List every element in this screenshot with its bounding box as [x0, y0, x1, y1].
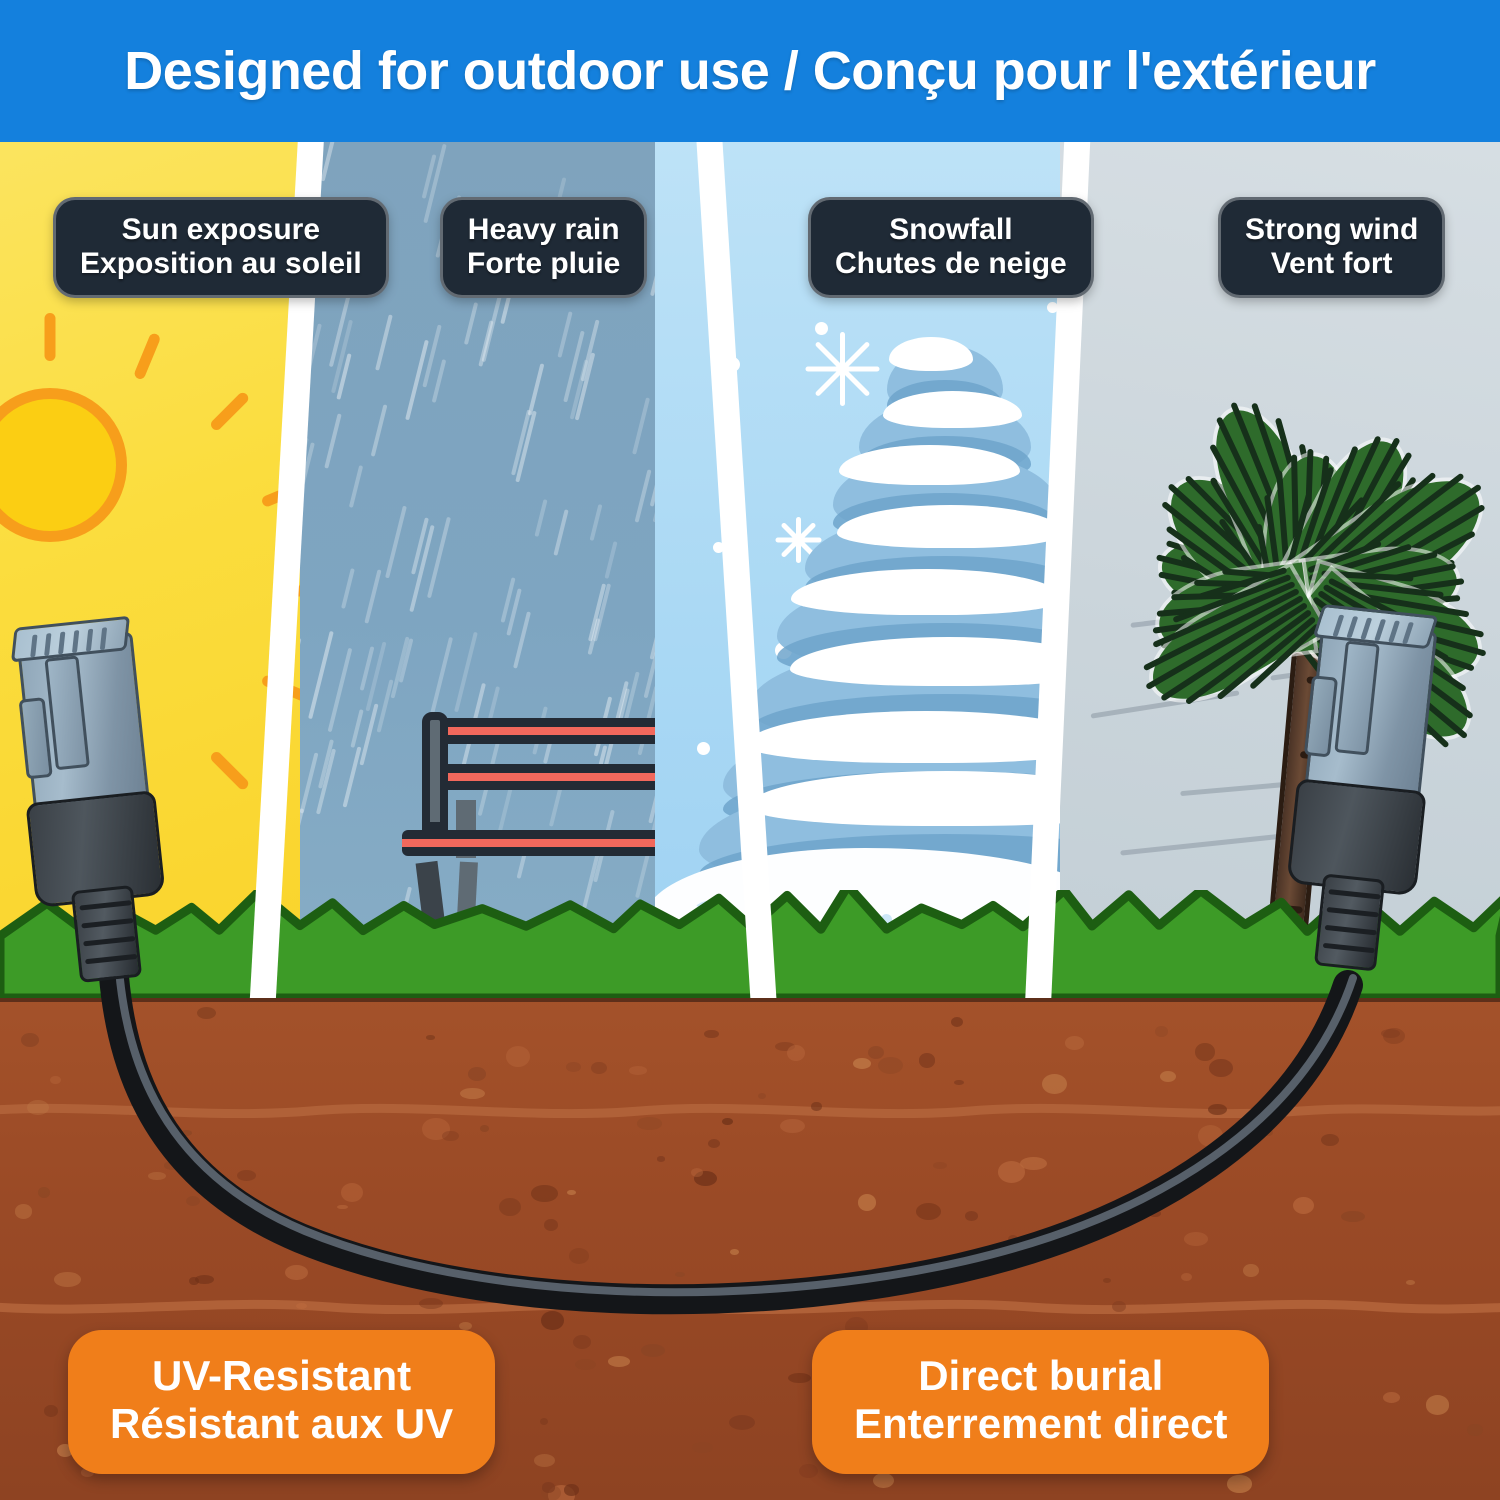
rain-drop — [375, 314, 393, 370]
rain-drop — [464, 302, 478, 345]
badge-label-en: Heavy rain — [467, 213, 620, 247]
badge-strong-wind: Strong wind Vent fort — [1218, 197, 1445, 298]
soil-speck — [708, 1139, 720, 1148]
soil-speck — [261, 1216, 284, 1233]
rain-drop — [431, 359, 445, 402]
soil-speck — [951, 1017, 963, 1027]
soil-speck — [1293, 1197, 1314, 1214]
rain-drop — [385, 506, 407, 579]
feature-label-en: UV-Resistant — [110, 1352, 453, 1400]
rj45-pin — [72, 630, 79, 653]
soil-speck — [544, 1219, 558, 1231]
badge-direct-burial: Direct burial Enterrement direct — [812, 1330, 1269, 1474]
feature-label-fr: Enterrement direct — [854, 1400, 1227, 1448]
soil-speck — [499, 1198, 521, 1216]
soil-speck — [998, 1161, 1025, 1183]
soil-speck — [758, 1093, 766, 1100]
rain-drop — [328, 648, 353, 732]
soil-speck — [506, 1046, 530, 1067]
rj45-pin — [100, 627, 107, 650]
rain-drop — [390, 636, 409, 699]
rj45-pin — [1346, 616, 1358, 638]
boot-rib — [81, 918, 133, 928]
soil-speck — [459, 1322, 473, 1331]
soil-speck — [517, 1279, 540, 1296]
header-banner: Designed for outdoor use / Conçu pour l'… — [0, 0, 1500, 142]
soil-speck — [965, 1211, 978, 1221]
rj45-boot-neck — [71, 885, 142, 983]
rj45-pin — [86, 629, 93, 652]
rain-drop — [554, 509, 569, 556]
soil-speck — [38, 1187, 50, 1198]
soil-speck — [1181, 1273, 1192, 1281]
rain-drop — [376, 679, 393, 733]
rj45-pin — [44, 633, 51, 656]
boot-rib — [83, 936, 135, 946]
rain-drop — [513, 611, 531, 668]
rain-drop — [342, 747, 361, 808]
sun-ray — [45, 313, 56, 361]
sun-ray — [133, 332, 162, 381]
soil-speck — [1381, 1029, 1400, 1038]
rj45-boot-neck — [1314, 873, 1385, 971]
badge-heavy-rain: Heavy rain Forte pluie — [440, 197, 647, 298]
page-title: Designed for outdoor use / Conçu pour l'… — [124, 40, 1375, 102]
rain-drop — [300, 752, 318, 813]
soil-speck — [799, 1464, 819, 1479]
soil-speck — [692, 1442, 714, 1452]
soil-speck — [809, 1291, 828, 1306]
soil-speck — [337, 1205, 347, 1210]
soil-speck — [1383, 1392, 1400, 1403]
rain-drop — [321, 142, 342, 182]
soil-speck — [468, 1067, 486, 1081]
soil-speck — [186, 1196, 200, 1206]
tree-snow-cap — [889, 337, 973, 371]
soil-speck — [542, 1482, 555, 1493]
rain-drop — [557, 311, 572, 358]
soil-speck — [564, 1484, 579, 1495]
rain-drop — [635, 469, 652, 523]
soil-speck — [237, 1170, 256, 1181]
soil-speck — [573, 1335, 592, 1349]
soil-speck — [852, 1272, 877, 1285]
soil-speck — [1149, 1210, 1161, 1217]
boot-rib — [85, 954, 137, 964]
soil-speck — [21, 1033, 39, 1047]
soil-speck — [569, 1248, 590, 1264]
badge-label-en: Snowfall — [835, 213, 1067, 247]
rain-drop — [632, 398, 650, 456]
soil-speck — [1243, 1264, 1259, 1277]
soil-speck — [195, 1275, 213, 1284]
soil-speck — [1426, 1395, 1450, 1414]
soil-speck — [541, 1311, 563, 1330]
rain-drop — [308, 631, 334, 719]
soil-speck — [566, 1062, 581, 1072]
soil-speck — [1198, 1125, 1223, 1147]
rain-drop — [300, 638, 302, 724]
soil-speck — [787, 1045, 805, 1061]
rain-drop — [364, 569, 381, 623]
soil-speck — [811, 1102, 821, 1110]
soil-speck — [1406, 1280, 1415, 1285]
soil-speck — [1065, 1036, 1084, 1050]
soil-speck — [27, 1100, 49, 1116]
soil-speck — [637, 1117, 662, 1129]
soil-speck — [675, 1272, 684, 1277]
badge-sun-exposure: Sun exposure Exposition au soleil — [53, 197, 389, 298]
soil-speck — [1263, 1129, 1272, 1136]
soil-strata-line — [0, 1298, 1500, 1314]
soil-speck — [641, 1344, 665, 1357]
badge-snowfall: Snowfall Chutes de neige — [808, 197, 1094, 298]
soil-speck — [722, 1118, 732, 1125]
soil-speck — [1112, 1301, 1126, 1312]
rain-drop — [324, 413, 341, 468]
soil-speck — [534, 1454, 555, 1467]
rj45-connector-left — [3, 628, 193, 943]
soil-speck — [1209, 1059, 1233, 1077]
rain-drop — [300, 808, 304, 851]
rain-drop — [534, 499, 547, 537]
soil-speck — [916, 1203, 941, 1220]
rj45-pin — [1402, 622, 1414, 644]
soil-speck — [954, 1080, 964, 1085]
outdoor-cable-infographic: Designed for outdoor use / Conçu pour l'… — [0, 0, 1500, 1500]
rj45-pin — [1360, 618, 1372, 640]
rj45-pin — [58, 632, 65, 655]
soil-speck — [1341, 1211, 1366, 1223]
soil-speck — [780, 1119, 804, 1133]
soil-speck — [1321, 1134, 1339, 1146]
rain-drop — [527, 363, 544, 415]
soil-speck — [657, 1156, 665, 1161]
soil-speck — [44, 1405, 58, 1417]
soil-speck — [873, 1473, 894, 1488]
soil-speck — [442, 1131, 458, 1142]
soil-speck — [197, 1007, 216, 1019]
soil-speck — [868, 1046, 884, 1059]
soil-speck — [480, 1125, 489, 1132]
rj45-pin — [30, 634, 37, 657]
soil-speck — [933, 1162, 947, 1170]
rain-drop — [604, 541, 617, 579]
soil-speck — [1042, 1074, 1068, 1094]
boot-rib — [1325, 925, 1377, 935]
boot-rib — [1323, 943, 1375, 953]
badge-label-fr: Chutes de neige — [835, 247, 1067, 281]
soil-speck — [531, 1185, 557, 1201]
soil-strata-line — [0, 1102, 1500, 1118]
soil-speck — [853, 1058, 871, 1069]
soil-speck — [1008, 1235, 1018, 1244]
rain-drop — [454, 631, 478, 711]
rj45-pin — [1374, 619, 1386, 641]
boot-rib — [1327, 907, 1379, 917]
soil-speck — [919, 1053, 936, 1067]
badge-label-fr: Exposition au soleil — [80, 247, 362, 281]
soil-speck — [691, 1168, 703, 1177]
soil-speck — [567, 1190, 576, 1195]
soil-speck — [54, 1272, 82, 1287]
soil-speck — [1227, 1475, 1251, 1492]
badge-uv-resistant: UV-Resistant Résistant aux UV — [68, 1330, 495, 1474]
soil-speck — [591, 1062, 606, 1074]
soil-speck — [608, 1356, 630, 1367]
feature-label-fr: Résistant aux UV — [110, 1400, 453, 1448]
soil-speck — [296, 1303, 307, 1309]
soil-speck — [878, 1057, 903, 1074]
soil-speck — [540, 1418, 549, 1425]
soil-speck — [788, 1373, 811, 1384]
soil-speck — [50, 1076, 61, 1085]
boot-rib — [1328, 889, 1380, 899]
rain-drop — [341, 568, 355, 608]
soil-speck — [1103, 1278, 1111, 1283]
rj45-pin — [1388, 621, 1400, 643]
soil-speck — [1160, 1071, 1176, 1082]
boot-rib — [79, 900, 131, 910]
soil-speck — [629, 1066, 646, 1074]
soil-speck — [285, 1265, 308, 1281]
rj45-connector-right — [1277, 618, 1467, 933]
badge-label-fr: Vent fort — [1245, 247, 1418, 281]
bench-backrest-post — [422, 712, 448, 830]
soil-speck — [460, 1088, 484, 1099]
soil-speck — [148, 1172, 166, 1181]
soil-speck — [164, 1161, 181, 1169]
rain-drop — [590, 504, 603, 541]
snow-flake-dot — [697, 742, 710, 755]
soil-speck — [906, 1274, 923, 1288]
sun-icon — [0, 300, 215, 630]
feature-label-en: Direct burial — [854, 1352, 1227, 1400]
rj45-pin — [1332, 615, 1344, 637]
soil-speck — [15, 1204, 32, 1218]
soil-speck — [730, 1249, 738, 1255]
sun-disc — [0, 388, 127, 542]
soil-speck — [181, 1130, 192, 1136]
rain-drop — [350, 710, 363, 749]
soil-speck — [341, 1183, 363, 1202]
soil-speck — [575, 1359, 596, 1370]
rain-drop — [349, 465, 363, 508]
soil-speck — [426, 1035, 435, 1040]
badge-label-fr: Forte pluie — [467, 247, 620, 281]
rain-drop — [371, 404, 388, 457]
badge-label-en: Sun exposure — [80, 213, 362, 247]
soil-speck — [704, 1030, 719, 1039]
soil-speck — [1195, 1043, 1214, 1060]
soil-speck — [1155, 1026, 1167, 1037]
soil-speck — [1184, 1232, 1208, 1246]
soil-speck — [1467, 1424, 1482, 1437]
soil-speck — [1024, 1257, 1038, 1264]
soil-speck — [858, 1194, 876, 1210]
badge-label-en: Strong wind — [1245, 213, 1418, 247]
soil-speck — [729, 1415, 756, 1430]
